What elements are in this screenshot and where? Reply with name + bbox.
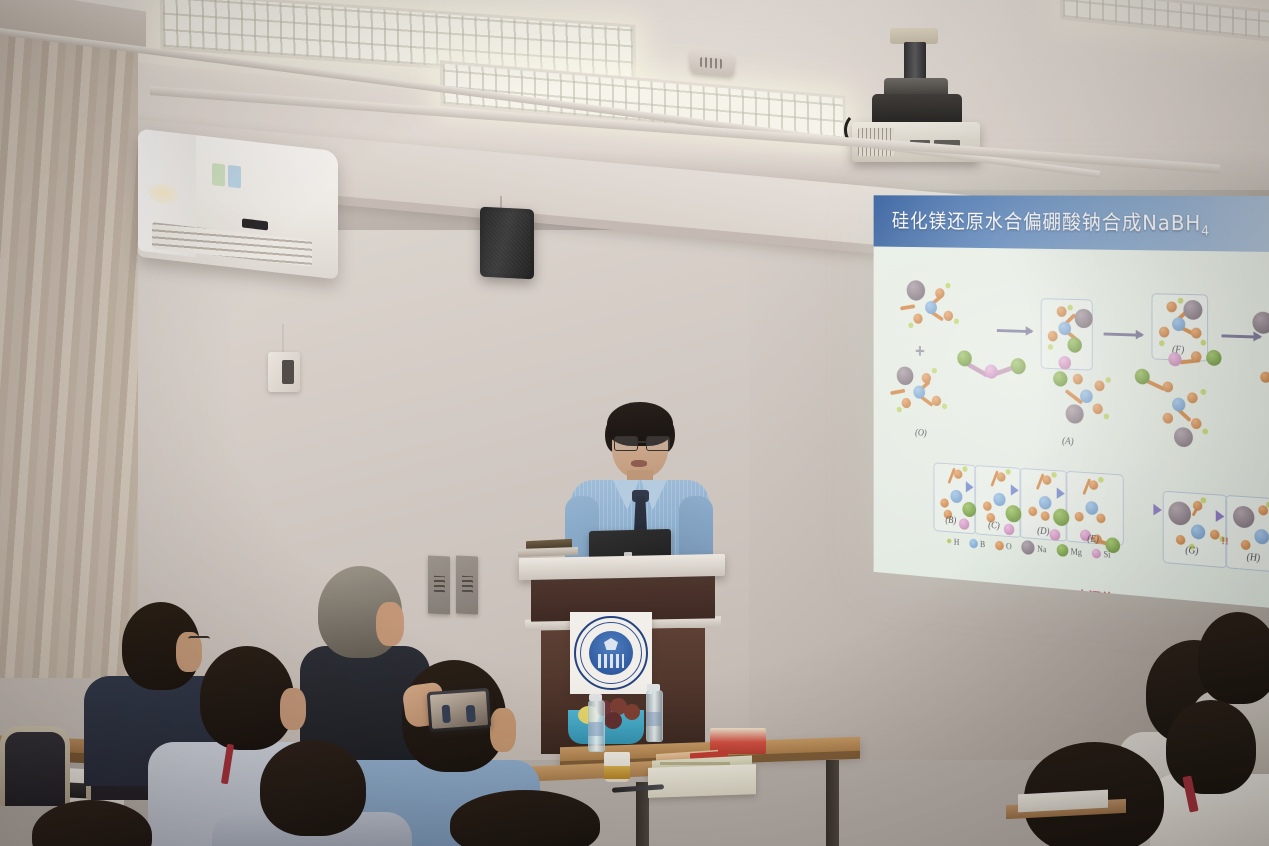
reaction-arrow <box>1104 333 1143 337</box>
emblem-ring <box>574 616 648 690</box>
structure-label-C: (C) <box>988 520 1000 531</box>
speaker-grille <box>484 211 530 275</box>
air-conditioner <box>138 129 338 280</box>
snack-box[interactable] <box>710 728 766 754</box>
wall-speaker <box>480 207 534 280</box>
slide-title-main: 硅化镁还原水合偏硼酸钠合成NaBH <box>892 210 1201 235</box>
legend-dot-Na <box>1021 540 1034 555</box>
slide-title-subscript: 4 <box>1201 225 1210 240</box>
structure-label-A: (A) <box>1062 436 1073 447</box>
wall-thermostat[interactable] <box>268 352 300 392</box>
structure-label-E: (E) <box>1087 534 1099 545</box>
fruit-grape <box>604 712 622 729</box>
step-arrow-icon <box>1153 504 1161 516</box>
legend-label-Mg: Mg <box>1071 546 1082 557</box>
slide-title-bar: 硅化镁还原水合偏硼酸钠合成NaBH4 <box>874 195 1269 252</box>
chair <box>0 726 70 806</box>
step-arrow-icon <box>1011 484 1019 496</box>
smartphone-recording[interactable] <box>427 688 492 732</box>
smoke-detector-icon <box>690 50 734 76</box>
glasses-icon <box>188 636 210 644</box>
chair-cushion <box>5 732 65 806</box>
legend-label-B: B <box>980 539 985 549</box>
glasses-lens-right <box>646 436 670 451</box>
glasses-bridge <box>636 441 646 443</box>
legend-dot-Si <box>1092 548 1101 558</box>
ac-energy-label <box>228 165 241 188</box>
thermostat-wire <box>282 324 284 354</box>
slide-title-text: 硅化镁还原水合偏硼酸钠合成NaBH4 <box>874 206 1210 239</box>
legend-item-B: B <box>969 538 985 549</box>
audience-member <box>212 740 412 846</box>
podium-top-surface <box>519 554 725 580</box>
step-arrow-icon <box>1057 487 1065 499</box>
document-stack[interactable] <box>648 764 756 798</box>
legend-label-H: H <box>954 537 960 547</box>
step-arrow-icon <box>1216 510 1225 522</box>
structure-label-G: (G) <box>1185 545 1198 557</box>
phone-screen-figure <box>466 705 476 723</box>
audience-member <box>12 800 182 846</box>
legend-dot-O <box>995 540 1004 550</box>
legend-dot-H <box>947 539 951 544</box>
university-emblem <box>570 612 652 694</box>
plus-sign: + <box>915 341 925 363</box>
bottle-label <box>588 722 603 736</box>
slide-body: + (O) <box>874 246 1269 608</box>
ac-energy-label <box>212 163 225 186</box>
legend-label-Si: Si <box>1104 549 1111 559</box>
structure-label-H: (H) <box>1247 552 1261 564</box>
legend-item-Mg: Mg <box>1056 544 1082 559</box>
legend-dot-Mg <box>1056 544 1068 557</box>
step-arrow-icon <box>966 481 974 493</box>
phone-screen <box>430 691 488 729</box>
phone-screen-figure <box>442 705 451 724</box>
bottle-label <box>646 712 661 726</box>
legend-item-O: O <box>995 540 1012 551</box>
legend-label-O: O <box>1006 541 1012 551</box>
legend-item-Na: Na <box>1021 540 1046 556</box>
legend-item-H: H <box>947 536 959 546</box>
emblem-core <box>589 631 633 675</box>
projector-pole <box>904 42 926 80</box>
window-curtain <box>0 18 138 678</box>
structure-label-D: (D) <box>1037 526 1049 537</box>
glasses-lens-left <box>614 436 638 451</box>
table-leg <box>826 760 839 846</box>
legend-item-Si: Si <box>1092 548 1111 559</box>
audience-member <box>440 790 640 846</box>
reaction-arrow <box>1222 334 1261 338</box>
warning-exclamation: ! <box>1222 536 1225 547</box>
warning-exclamation: ! <box>1225 536 1228 547</box>
wall-plaque <box>456 555 478 614</box>
paper-cup-label <box>604 766 630 779</box>
reaction-arrow <box>997 329 1032 333</box>
fruit-grape <box>624 704 640 720</box>
structure-label-B: (B) <box>945 515 956 526</box>
legend-label-Na: Na <box>1037 543 1046 553</box>
bottle-cap <box>647 684 660 691</box>
projection-screen: 硅化镁还原水合偏硼酸钠合成NaBH4 + <box>874 195 1269 608</box>
presenter-mouth <box>631 460 647 467</box>
wall-plaque <box>428 555 450 614</box>
bottle-cap <box>589 694 602 701</box>
structure-label-O: (O) <box>915 428 927 439</box>
legend-dot-B <box>969 538 978 548</box>
lecture-hall-photo: 硅化镁还原水合偏硼酸钠合成NaBH4 + <box>0 0 1269 846</box>
glasses-icon <box>614 436 668 449</box>
